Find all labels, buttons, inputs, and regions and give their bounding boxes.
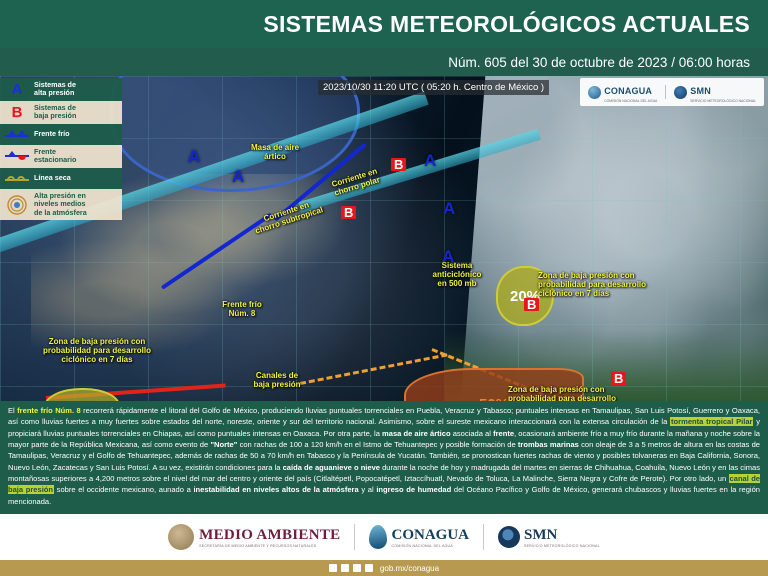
footer-logo-conagua: CONAGUA COMISIÓN NACIONAL DEL AGUA <box>369 525 469 549</box>
water-drop-icon <box>369 525 387 549</box>
bulletin-subheader: Núm. 605 del 30 de octubre de 2023 / 06:… <box>0 48 768 76</box>
smn-gear-icon <box>674 86 687 99</box>
footer-logo-smn: SMN SERVICIO METEOROLÓGICO NACIONAL <box>498 526 600 548</box>
footer-url[interactable]: gob.mx/conagua <box>380 564 439 573</box>
legend-item-cold-front-label: Frente frío <box>34 130 70 138</box>
arctic-air-mass-label: Masa de aire ártico <box>230 144 320 162</box>
map-logo-conagua-name: CONAGUA <box>604 86 652 96</box>
mexico-seal-icon <box>168 524 194 550</box>
legend-item-stationary-front: Frente estacionario <box>0 145 122 168</box>
footer-logo-conagua-name: CONAGUA <box>391 527 469 543</box>
logo-divider <box>665 85 666 99</box>
high-pressure-marker-a-2: A <box>188 148 200 165</box>
instagram-icon[interactable] <box>353 564 361 572</box>
high-pressure-marker-a-5: A <box>442 248 454 265</box>
legend-item-low-pressure: B Sistemas de baja presión <box>0 101 122 124</box>
probability-zone-20-caption: Zona de baja presión con probabilidad pa… <box>538 272 738 299</box>
high-pressure-marker-a-1: A <box>232 168 244 185</box>
page-header: SISTEMAS METEOROLÓGICOS ACTUALES <box>0 0 768 48</box>
low-pressure-marker-b-3: B <box>524 298 539 311</box>
footer-logo-medio-ambiente-name: MEDIO AMBIENTE <box>199 527 340 543</box>
smn-gear-icon <box>498 526 520 548</box>
low-pressure-b-icon: B <box>4 105 30 120</box>
legend-item-cold-front: Frente frío <box>0 124 122 145</box>
stationary-front-icon <box>4 149 30 164</box>
legend-item-stationary-front-label: Frente estacionario <box>34 148 76 165</box>
footer-divider-1 <box>354 524 355 550</box>
legend-item-high-pressure-label: Sistemas de alta presión <box>34 81 76 98</box>
cold-front-8-label: Frente frío Núm. 8 <box>208 301 276 319</box>
map-logo-conagua-sub: COMISIÓN NACIONAL DEL AGUA <box>604 99 657 103</box>
map-logo-conagua: CONAGUA COMISIÓN NACIONAL DEL AGUA <box>588 81 657 103</box>
low-pressure-marker-b-4: B <box>611 372 626 385</box>
legend-item-dry-line: Línea seca <box>0 168 122 189</box>
map-logo-smn-sub: SERVICIO METEOROLÓGICO NACIONAL <box>690 99 756 103</box>
footer-logo-smn-sub: SERVICIO METEOROLÓGICO NACIONAL <box>524 544 600 548</box>
cold-front-icon <box>4 127 30 142</box>
legend-item-mid-level-high: Alta presión en niveles medios de la atm… <box>0 189 122 220</box>
dry-line-icon <box>4 171 30 186</box>
map-logo-smn-name: SMN <box>690 86 711 96</box>
high-pressure-marker-a-4: A <box>443 200 455 217</box>
map-agency-logos: CONAGUA COMISIÓN NACIONAL DEL AGUA SMN S… <box>580 78 764 106</box>
map-logo-smn: SMN SERVICIO METEOROLÓGICO NACIONAL <box>674 81 756 103</box>
map-legend: A Sistemas de alta presión B Sistemas de… <box>0 78 122 220</box>
facebook-icon[interactable] <box>329 564 337 572</box>
anticyclonic-system-label: Sistema anticiclónico en 500 mb <box>416 262 498 289</box>
footer-logo-conagua-sub: COMISIÓN NACIONAL DEL AGUA <box>391 544 469 548</box>
bulletin-number-date: Núm. 605 del 30 de octubre de 2023 / 06:… <box>448 55 750 70</box>
water-drop-icon <box>588 86 601 99</box>
footer-logo-medio-ambiente-sub: SECRETARÍA DE MEDIO AMBIENTE Y RECURSOS … <box>199 544 340 548</box>
probability-zone-50-value: 50% <box>479 396 509 402</box>
page-footer: MEDIO AMBIENTE SECRETARÍA DE MEDIO AMBIE… <box>0 514 768 560</box>
footer-logo-medio-ambiente: MEDIO AMBIENTE SECRETARÍA DE MEDIO AMBIE… <box>168 524 340 550</box>
forecast-body-text: El frente frío Núm. 8 recorrerá rápidame… <box>0 401 768 514</box>
page-title: SISTEMAS METEOROLÓGICOS ACTUALES <box>263 11 750 38</box>
weather-map[interactable]: 20% 50% 30% Zona de baja presión con pro… <box>0 76 768 401</box>
legend-item-mid-level-high-label: Alta presión en niveles medios de la atm… <box>34 192 87 217</box>
probability-zone-30-caption: Zona de baja presión con probabilidad pa… <box>18 338 176 365</box>
mid-level-high-icon <box>4 197 30 212</box>
low-pressure-marker-b-1: B <box>341 206 356 219</box>
probability-zone-30-value: 30% <box>68 399 96 401</box>
satellite-timestamp: 2023/10/30 11:20 UTC ( 05:20 h. Centro d… <box>318 80 549 95</box>
footer-logo-smn-name: SMN <box>524 527 557 543</box>
youtube-icon[interactable] <box>365 564 373 572</box>
high-pressure-a-icon: A <box>4 82 30 97</box>
twitter-icon[interactable] <box>341 564 349 572</box>
footer-url-bar: gob.mx/conagua <box>0 560 768 576</box>
low-pressure-channels-label: Canales de baja presión <box>240 372 314 390</box>
low-pressure-marker-b-2: B <box>391 158 406 171</box>
probability-zone-50-caption: Zona de baja presión con probabilidad pa… <box>508 386 708 401</box>
forecast-body-paragraph: El frente frío Núm. 8 recorrerá rápidame… <box>8 406 760 506</box>
legend-item-dry-line-label: Línea seca <box>34 174 71 182</box>
legend-item-low-pressure-label: Sistemas de baja presión <box>34 104 76 121</box>
high-pressure-marker-a-3: A <box>424 152 436 169</box>
footer-divider-2 <box>483 524 484 550</box>
legend-item-high-pressure: A Sistemas de alta presión <box>0 78 122 101</box>
